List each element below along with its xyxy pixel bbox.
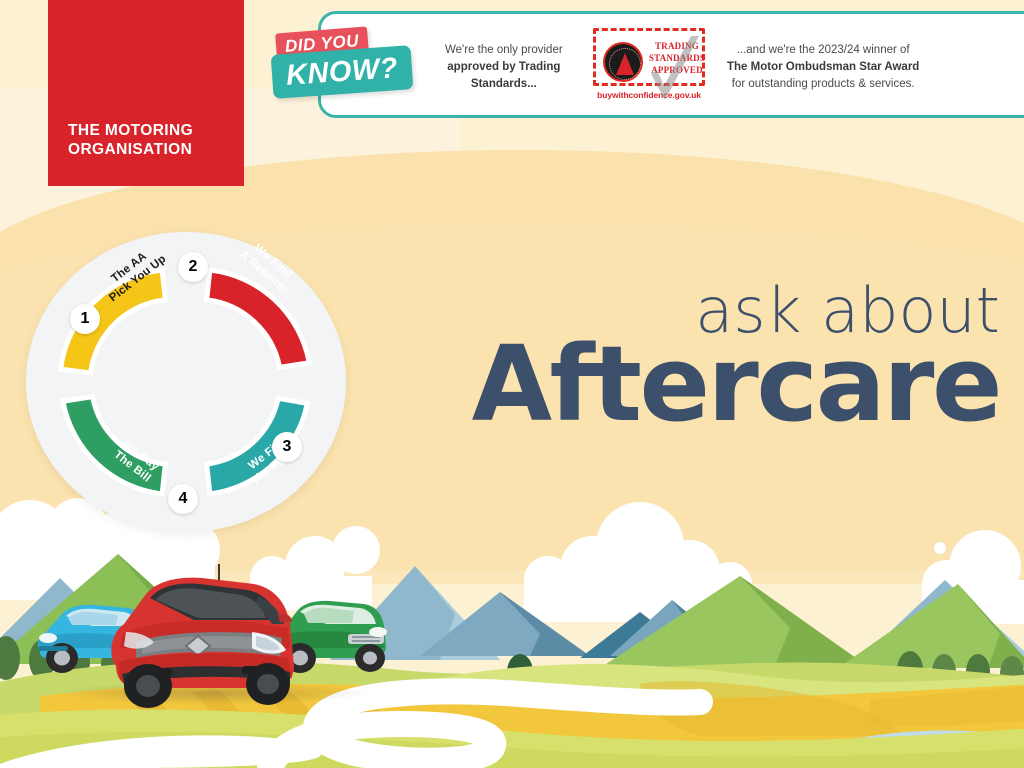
claim-two-line-3: for outstanding products & services. — [732, 78, 915, 90]
step-badge-2[interactable]: 2 — [178, 252, 208, 282]
claim-two-line-2: The Motor Ombudsman Star Award — [727, 61, 919, 73]
brand-logo[interactable]: THE MOTORING ORGANISATION — [48, 0, 244, 186]
car-group — [28, 562, 396, 722]
claim-two-text: ...and we're the 2023/24 winner of The M… — [727, 42, 919, 93]
banner-content: We're the only provider approved by Trad… — [321, 14, 1024, 115]
tick-icon — [649, 34, 701, 106]
car-red-hatchback — [102, 562, 302, 712]
step-badge-4[interactable]: 4 — [168, 484, 198, 514]
claim-one-text: We're the only provider approved by Trad… — [445, 42, 563, 93]
did-you-know-ribbon: DID YOU KNOW? — [272, 30, 422, 102]
did-you-know-banner: We're the only provider approved by Trad… — [318, 11, 1024, 118]
headline: ask about Aftercare — [380, 282, 1000, 435]
claim-one-line-3: Standards... — [471, 78, 537, 90]
seal-ring — [609, 48, 641, 80]
claim-two-line-1: ...and we're the 2023/24 winner of — [737, 44, 910, 56]
claim-one: We're the only provider approved by Trad… — [445, 14, 585, 115]
claim-one-line-2: approved by Trading — [447, 61, 560, 73]
claim-two: ...and we're the 2023/24 winner of The M… — [727, 14, 927, 115]
trading-standards-approved-badge: TRADING STANDARDS APPROVED buywithconfid… — [591, 26, 709, 108]
ribbon-line-2: KNOW? — [271, 45, 414, 99]
buy-with-confidence-seal-icon — [603, 42, 643, 82]
aftercare-process-diagram: The AA Pick You Up We Find A Repairer We… — [26, 232, 366, 532]
step-badge-3[interactable]: 3 — [272, 432, 302, 462]
claim-one-line-1: We're the only provider — [445, 44, 563, 56]
brand-logo-text: THE MOTORING ORGANISATION — [68, 122, 193, 160]
headline-main: Aftercare — [380, 335, 1000, 435]
banner-stage: ask about Aftercare The AA Pick You Up W… — [0, 0, 1024, 768]
step-badge-1[interactable]: 1 — [70, 304, 100, 334]
